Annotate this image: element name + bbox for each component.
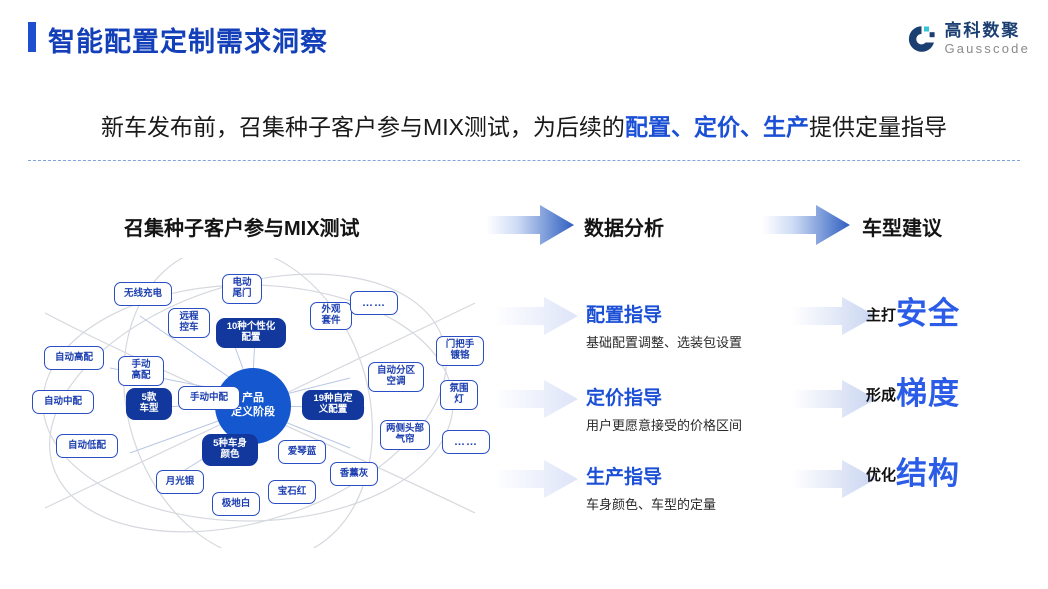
slide-subtitle: 新车发布前，召集种子客户参与MIX测试，为后续的配置、定价、生产提供定量指导	[0, 108, 1048, 142]
mindmap-node-color-aroma-grey[interactable]: 香薰灰	[330, 462, 378, 486]
flow-arrow-stage-2-to-3	[762, 203, 850, 247]
section-divider	[28, 160, 1020, 161]
column-1-title: 召集种子客户参与MIX测试	[124, 212, 360, 241]
mindmap-node-manual-high-trim[interactable]: 手动高配	[118, 356, 164, 386]
page-title: 智能配置定制需求洞察	[48, 20, 328, 59]
mindmap-node-5-models[interactable]: 5款车型	[126, 388, 172, 420]
suggestion-2-prefix: 形成	[866, 384, 896, 409]
analysis-item-2-sub: 用户更愿意接受的价格区间	[586, 415, 742, 434]
mindmap-node-auto-zone-ac[interactable]: 自动分区空调	[368, 362, 424, 392]
mindmap-node-auto-mid-trim[interactable]: 自动中配	[32, 390, 94, 414]
column-3-title: 车型建议	[862, 212, 942, 241]
flow-arrow-stage-1-to-2	[486, 203, 574, 247]
mindmap-node-color-aegean-blue[interactable]: 爱琴蓝	[278, 440, 326, 464]
mindmap-node-chrome-door-handle[interactable]: 门把手镀铬	[436, 336, 484, 366]
suggestion-1-prefix: 主打	[866, 304, 896, 329]
logo-wordmark: 高科数聚 Gausscode	[944, 22, 1030, 55]
analysis-item-3-sub: 车身颜色、车型的定量	[586, 494, 716, 513]
suggestion-item-3: 优化 结构	[866, 458, 960, 489]
row-arrow-left-2	[494, 379, 578, 419]
mindmap-node-ellipsis-right[interactable]: ……	[442, 430, 490, 454]
mindmap-node-wireless-charging[interactable]: 无线充电	[114, 282, 172, 306]
subtitle-part-2: 提供定量指导	[809, 114, 947, 140]
column-2-title: 数据分析	[584, 212, 664, 241]
mindmap-node-power-tailgate[interactable]: 电动尾门	[222, 274, 262, 304]
mindmap-node-5-body-colors[interactable]: 5种车身颜色	[202, 434, 258, 466]
mindmap-node-appearance-kit[interactable]: 外观套件	[310, 302, 352, 330]
suggestion-1-word: 安全	[896, 298, 960, 329]
brand-logo: 高科数聚 Gausscode	[905, 22, 1030, 55]
subtitle-part-1: 新车发布前，召集种子客户参与MIX测试，为后续的	[101, 114, 625, 140]
suggestion-item-1: 主打 安全	[866, 298, 960, 329]
mindmap-node-auto-low-trim[interactable]: 自动低配	[56, 434, 118, 458]
suggestion-3-word: 结构	[896, 458, 960, 489]
analysis-item-1-title: 配置指导	[586, 300, 742, 327]
logo-text-cn: 高科数聚	[944, 22, 1030, 39]
mindmap-node-ambient-light[interactable]: 氛围灯	[440, 380, 478, 410]
mindmap-node-side-head-airbag[interactable]: 两侧头部气帘	[380, 420, 430, 450]
row-arrow-left-1	[494, 296, 578, 336]
row-arrow-left-3	[494, 459, 578, 499]
title-accent-bar	[28, 22, 36, 52]
slide-root: 智能配置定制需求洞察 高科数聚 Gausscode 新车发布前，召集种子客户参与…	[0, 0, 1048, 589]
row-arrow-right-1	[792, 296, 876, 336]
mindmap-diagram: 产品 定义阶段 无线充电 电动尾门 远程控车 10种个性化配置 外观套件 …… …	[20, 258, 490, 548]
suggestion-item-2: 形成 梯度	[866, 378, 960, 409]
gausscode-logo-icon	[905, 23, 937, 55]
mindmap-node-10-personalized-configs[interactable]: 10种个性化配置	[216, 318, 286, 348]
logo-text-en: Gausscode	[944, 42, 1030, 55]
mindmap-node-manual-mid-trim[interactable]: 手动中配	[178, 386, 240, 410]
mindmap-node-auto-high-trim[interactable]: 自动高配	[44, 346, 104, 370]
analysis-item-1-sub: 基础配置调整、选装包设置	[586, 332, 742, 351]
subtitle-highlight: 配置、定价、生产	[625, 114, 809, 140]
suggestion-3-prefix: 优化	[866, 464, 896, 489]
slide-header: 智能配置定制需求洞察 高科数聚 Gausscode	[0, 0, 1048, 78]
analysis-item-3-title: 生产指导	[586, 462, 716, 489]
row-arrow-right-3	[792, 459, 876, 499]
row-arrow-right-2	[792, 379, 876, 419]
mindmap-node-19-custom-configs[interactable]: 19种自定义配置	[302, 390, 364, 420]
suggestion-2-word: 梯度	[896, 378, 960, 409]
mindmap-node-color-polar-white[interactable]: 极地白	[212, 492, 260, 516]
analysis-item-3: 生产指导 车身颜色、车型的定量	[586, 462, 716, 513]
mindmap-node-ellipsis-top[interactable]: ……	[350, 291, 398, 315]
analysis-item-1: 配置指导 基础配置调整、选装包设置	[586, 300, 742, 351]
mindmap-node-remote-control[interactable]: 远程控车	[168, 308, 210, 338]
mindmap-node-color-moonlight-silver[interactable]: 月光银	[156, 470, 204, 494]
analysis-item-2-title: 定价指导	[586, 383, 742, 410]
analysis-item-2: 定价指导 用户更愿意接受的价格区间	[586, 383, 742, 434]
mindmap-node-color-ruby-red[interactable]: 宝石红	[268, 480, 316, 504]
